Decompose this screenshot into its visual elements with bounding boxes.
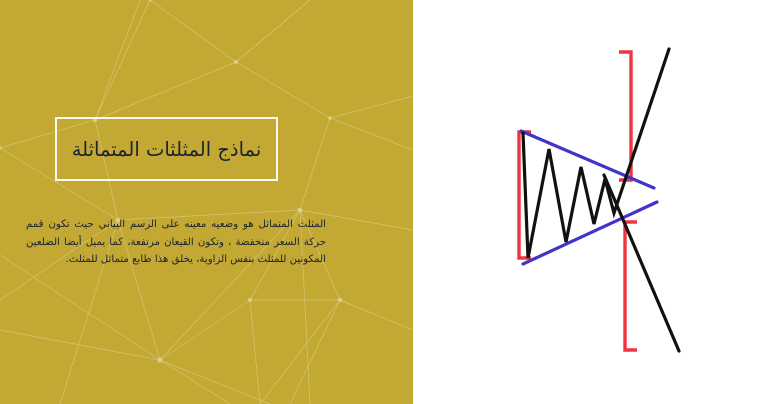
page-title: نماذج المثلثات المتماثلة	[72, 138, 262, 161]
slide: نماذج المثلثات المتماثلة المثلث المتماثل…	[0, 0, 768, 404]
upper-descending-trendline	[521, 131, 654, 188]
body-paragraph-text: المثلث المتماثل هو وضعيه معينه على الرسم…	[26, 216, 326, 269]
network-pattern-decoration	[0, 0, 413, 404]
breakdown-line	[604, 175, 679, 351]
gold-background-panel: نماذج المثلثات المتماثلة المثلث المتماثل…	[0, 0, 413, 404]
symmetrical-triangle-chart	[413, 0, 768, 404]
upside-target-bracket	[619, 52, 631, 180]
title-box: نماذج المثلثات المتماثلة	[55, 117, 278, 181]
body-paragraph: المثلث المتماثل هو وضعيه معينه على الرسم…	[26, 216, 326, 269]
price-zigzag-line	[523, 49, 669, 258]
chart-area	[413, 0, 768, 404]
